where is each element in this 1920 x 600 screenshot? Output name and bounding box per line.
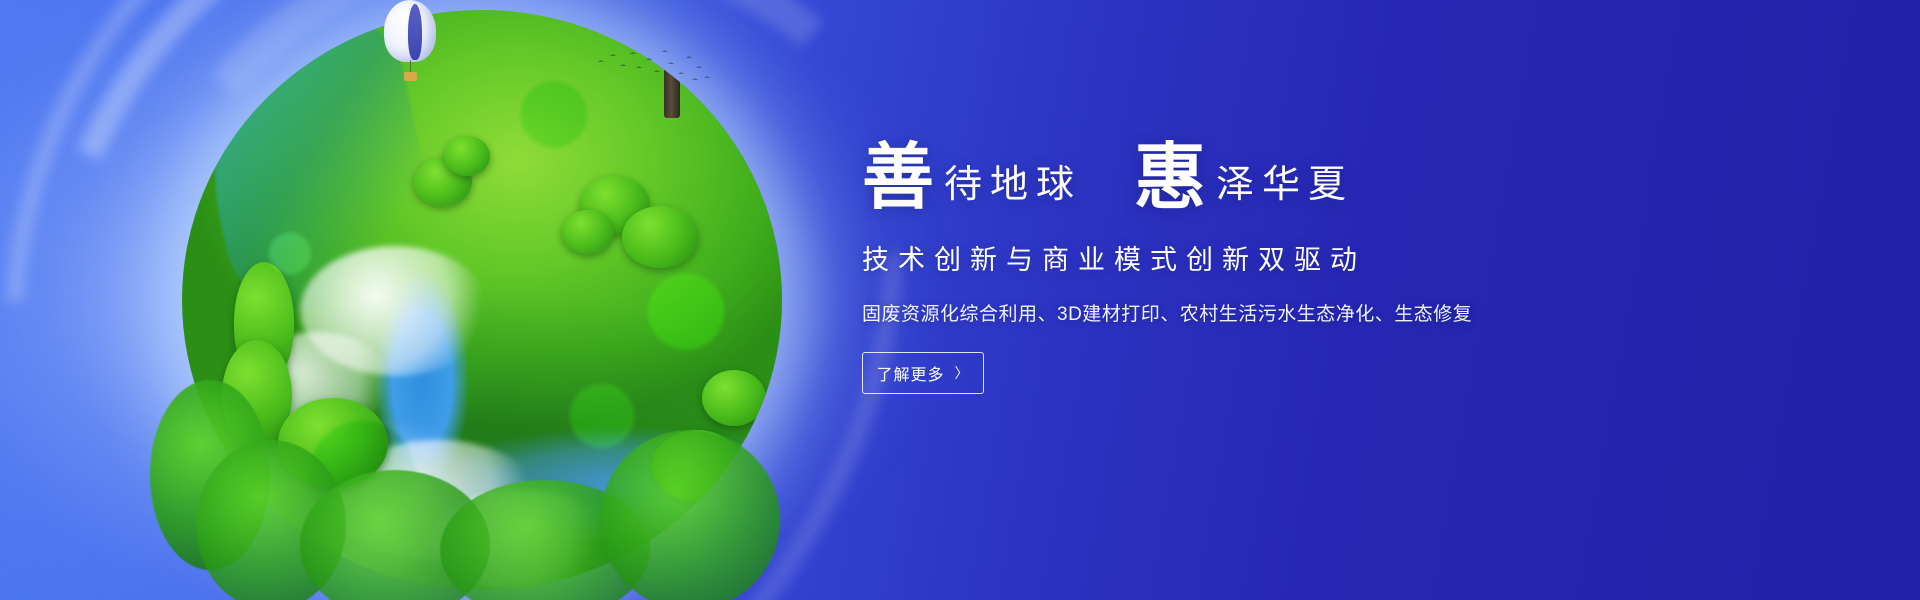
headline-part2-main: 惠 (1134, 142, 1206, 214)
birds-icon (596, 48, 716, 88)
chevron-right-icon: 〉 (955, 366, 970, 380)
headline-part1-main: 善 (862, 142, 934, 214)
balloon-basket (404, 72, 417, 81)
tree-clump (622, 206, 698, 268)
tree-clump (702, 370, 766, 426)
hot-air-balloon-icon (384, 0, 436, 86)
tree-clump (234, 262, 294, 382)
tree-clump (414, 158, 472, 206)
page-title: 善 待地球 惠 泽华夏 (862, 138, 1562, 210)
mist-cloud (242, 332, 392, 442)
learn-more-button[interactable]: 了解更多 〉 (862, 352, 984, 394)
learn-more-label: 了解更多 (876, 361, 944, 385)
page-subtitle: 技术创新与商业模式创新双驱动 (862, 238, 1562, 277)
headline-part1-sub: 待地球 (934, 166, 1082, 210)
hero-banner: 善 待地球 惠 泽华夏 技术创新与商业模式创新双驱动 固废资源化综合利用、3D建… (0, 0, 1920, 600)
page-description: 固废资源化综合利用、3D建材打印、农村生活污水生态净化、生态修复 (862, 299, 1562, 326)
tree-clump (580, 176, 650, 234)
tree-clump (562, 210, 614, 254)
foreground-tree (600, 430, 780, 600)
hero-content: 善 待地球 惠 泽华夏 技术创新与商业模式创新双驱动 固废资源化综合利用、3D建… (862, 138, 1562, 394)
large-tree-canopy (580, 10, 782, 52)
mist-cloud (300, 246, 490, 376)
balloon-stripe (408, 4, 422, 60)
tree-clump (444, 136, 490, 176)
headline-part2-sub: 泽华夏 (1206, 166, 1354, 210)
